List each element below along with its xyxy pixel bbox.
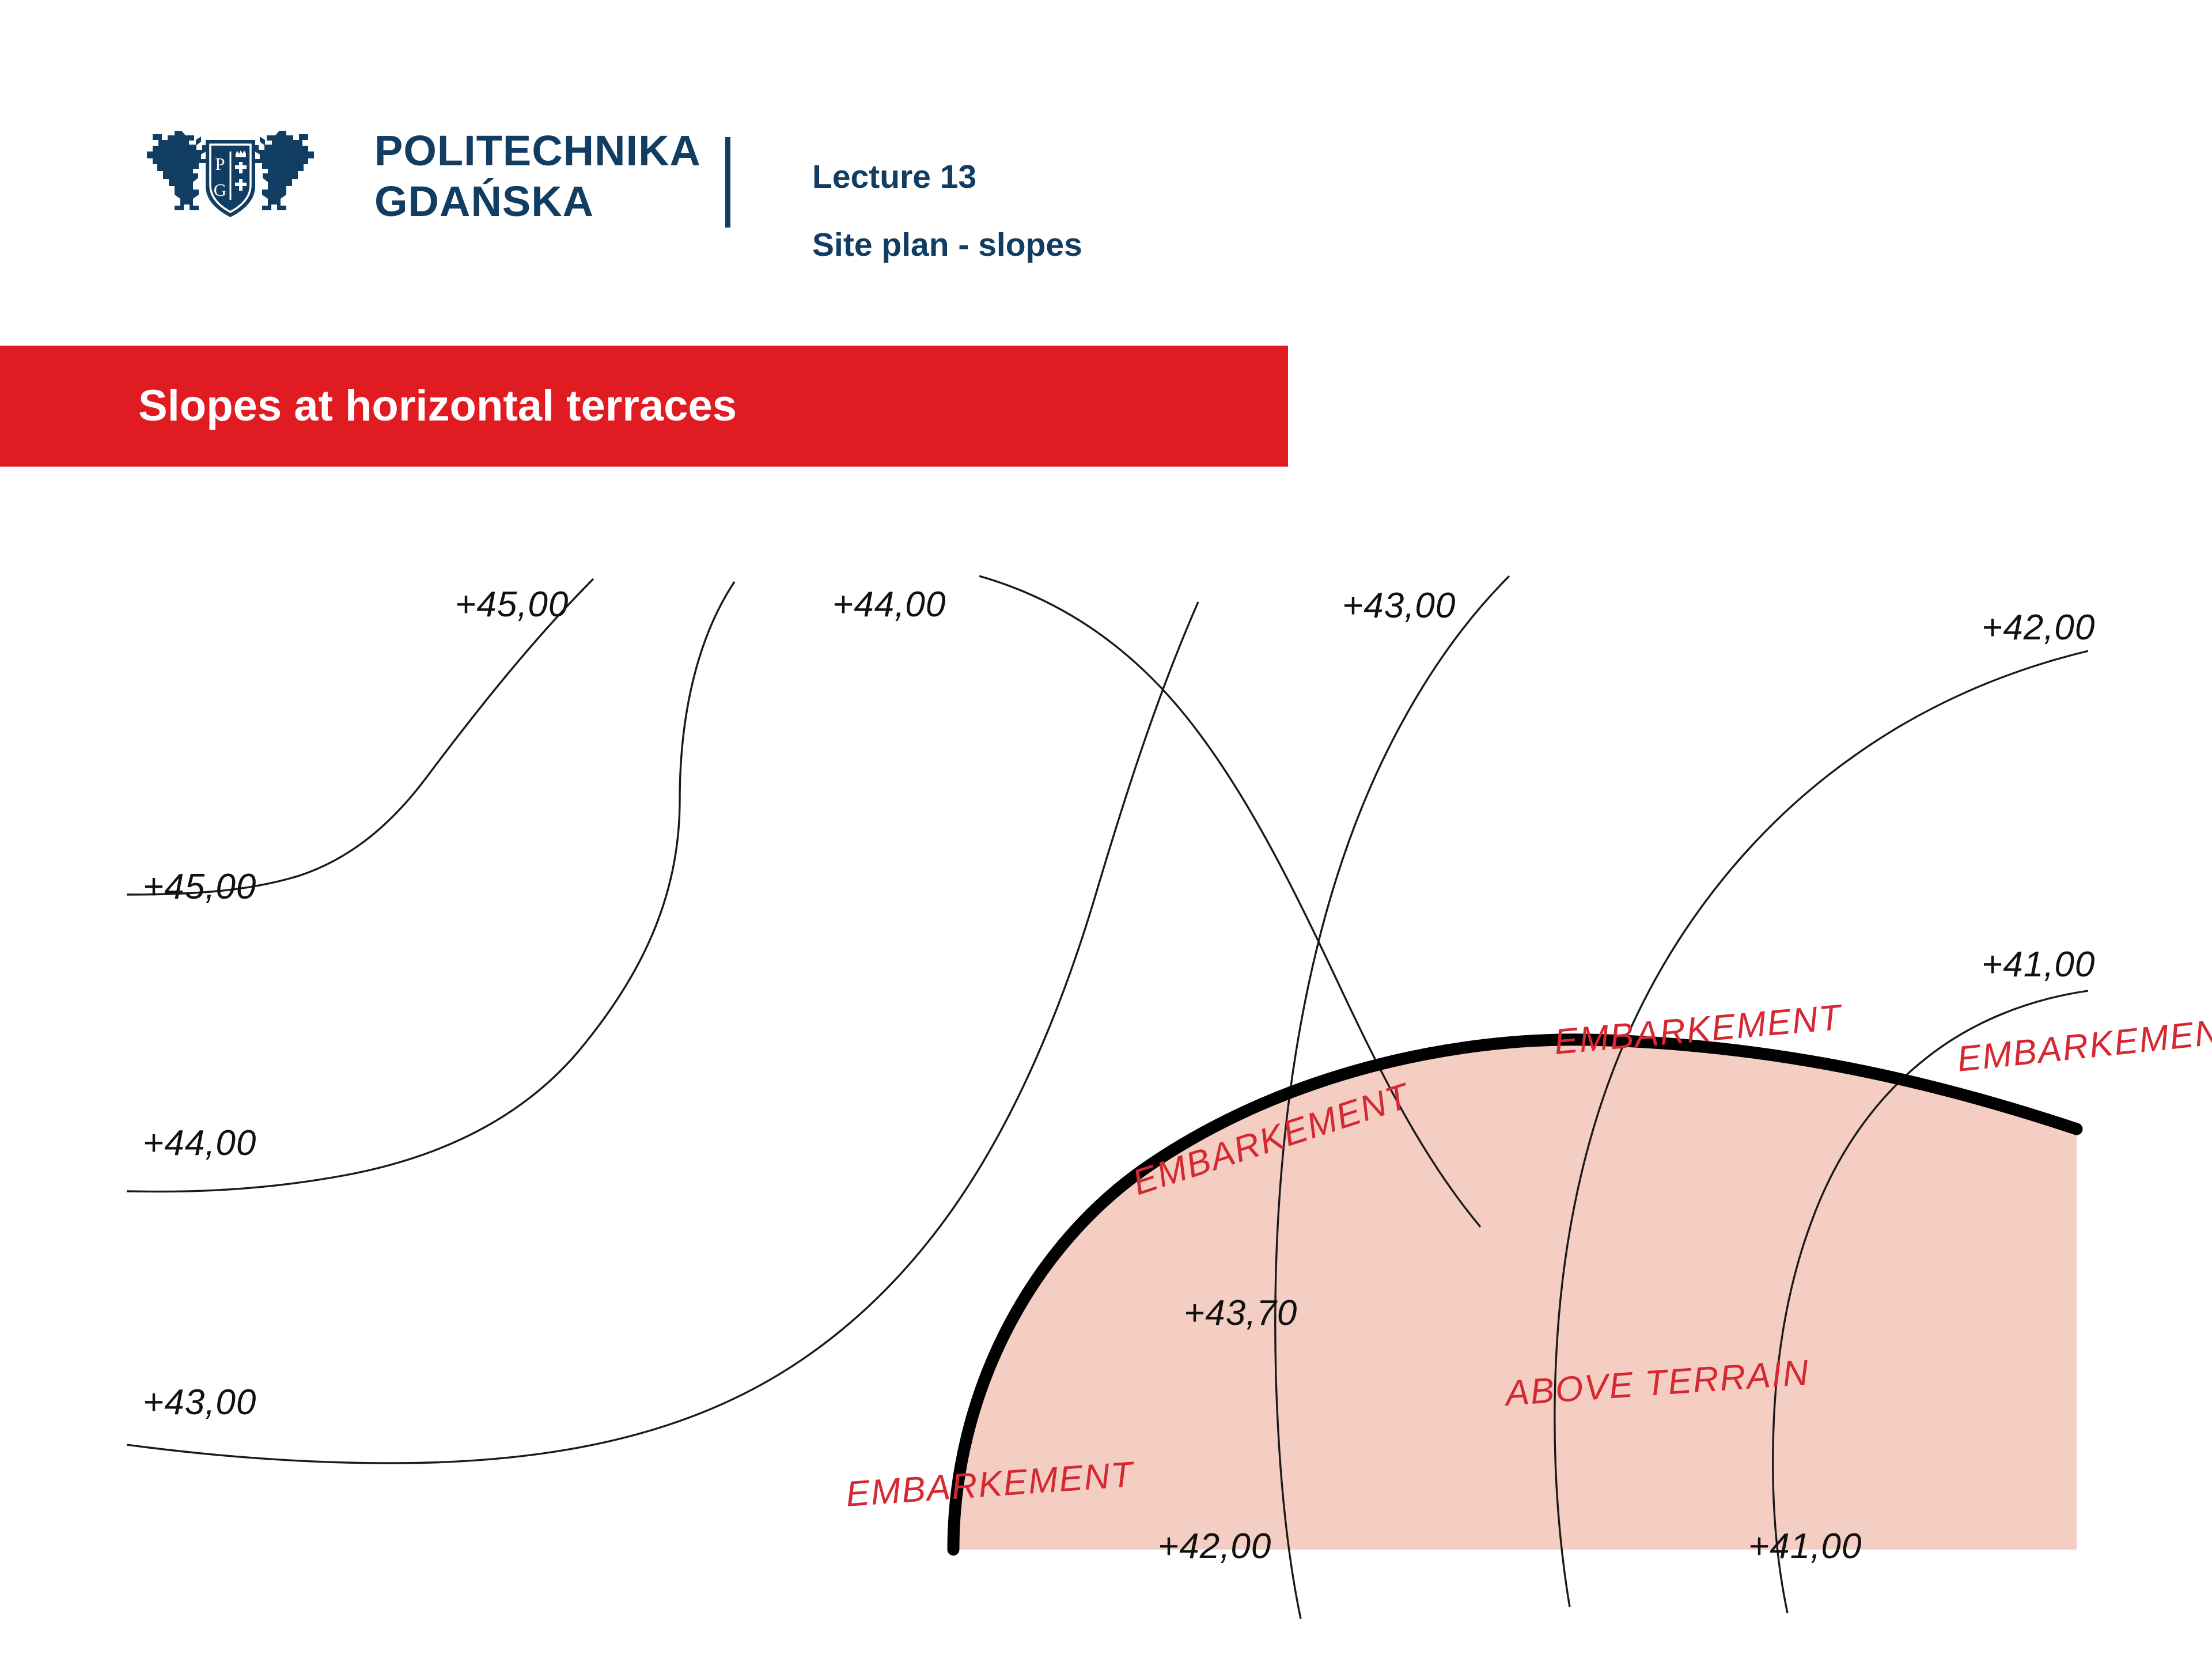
elevation-label-terrace: +43,70 bbox=[1184, 1293, 1297, 1333]
elevation-label: +41,00 bbox=[1748, 1527, 1862, 1566]
elevation-label: +45,00 bbox=[455, 585, 569, 624]
elevation-label: +41,00 bbox=[1982, 945, 2095, 984]
elevation-label: +43,00 bbox=[1342, 586, 1456, 626]
elevation-label: +44,00 bbox=[832, 585, 946, 624]
site-plan-contour-drawing: +45,00 +44,00 +43,00 +42,00 +41,00 +45,0… bbox=[0, 0, 2212, 1659]
embankment-label: EMBARKEMENT bbox=[1955, 1010, 2212, 1080]
contour-line-45-upper bbox=[127, 579, 593, 895]
elevation-label: +42,00 bbox=[1982, 608, 2095, 647]
elevation-label: +44,00 bbox=[143, 1123, 256, 1163]
elevation-label: +45,00 bbox=[143, 867, 256, 907]
elevation-label: +42,00 bbox=[1158, 1527, 1271, 1566]
elevation-label: +43,00 bbox=[143, 1382, 256, 1422]
